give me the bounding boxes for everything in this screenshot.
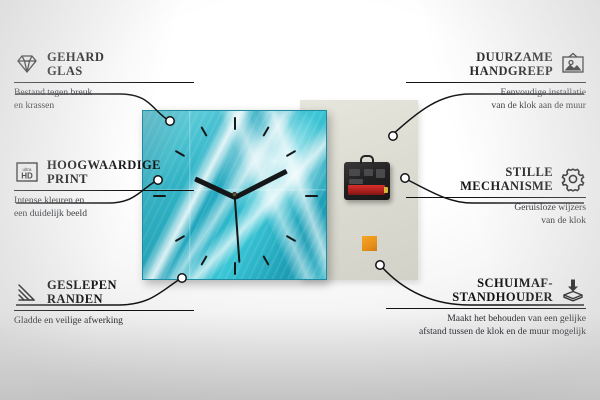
feature-title: SCHUIMAF-STANDHOUDER xyxy=(452,276,553,304)
feature-title: HOOGWAARDIGEPRINT xyxy=(47,158,161,186)
feature-title: STILLEMECHANISME xyxy=(460,165,553,193)
movement-notch xyxy=(349,179,363,184)
gear-icon xyxy=(560,166,586,192)
feature-description: Intense kleuren eneen duidelijk beeld xyxy=(14,195,194,220)
foam-spacer-icon xyxy=(560,277,586,303)
feature-title: GESLEPENRANDEN xyxy=(47,278,117,306)
ultra-hd-icon: ultra HD xyxy=(14,159,40,185)
feature-divider xyxy=(386,308,586,309)
feature-description: Gladde en veilige afwerking xyxy=(14,315,194,327)
svg-text:HD: HD xyxy=(21,172,33,181)
feature-title: GEHARDGLAS xyxy=(47,50,104,78)
hanging-picture-icon xyxy=(560,51,586,77)
infographic-stage: GEHARDGLAS Bestand tegen breuken krassen… xyxy=(0,0,600,400)
feature-header: SCHUIMAF-STANDHOUDER xyxy=(386,276,586,304)
movement-notch xyxy=(364,169,373,176)
feature-hoogwaardige-print[interactable]: ultra HD HOOGWAARDIGEPRINT Intense kleur… xyxy=(14,158,194,220)
feature-header: ultra HD HOOGWAARDIGEPRINT xyxy=(14,158,194,186)
feature-schuimaf-standhouder[interactable]: SCHUIMAF-STANDHOUDER Maakt het behouden … xyxy=(386,276,586,338)
feature-header: DUURZAMEHANDGREEP xyxy=(406,50,586,78)
feature-title: DUURZAMEHANDGREEP xyxy=(470,50,553,78)
quartz-movement xyxy=(344,162,390,200)
foam-spacer xyxy=(362,236,377,251)
feature-duurzame-handgreep[interactable]: DUURZAMEHANDGREEP Eenvoudige installatie… xyxy=(406,50,586,112)
feature-stille-mechanisme[interactable]: STILLEMECHANISME Geruisloze wijzersvan d… xyxy=(406,165,586,227)
feature-description: Eenvoudige installatievan de klok aan de… xyxy=(406,87,586,112)
feature-description: Bestand tegen breuken krassen xyxy=(14,87,194,112)
feature-divider xyxy=(406,197,586,198)
movement-hanger xyxy=(360,155,374,164)
feature-header: GESLEPENRANDEN xyxy=(14,278,194,306)
feature-divider xyxy=(14,82,194,83)
feature-description: Geruisloze wijzersvan de klok xyxy=(406,202,586,227)
diamond-icon xyxy=(14,51,40,77)
beveled-edge-icon xyxy=(14,279,40,305)
clock-battery xyxy=(348,185,385,195)
clock-tick xyxy=(234,262,236,275)
feature-divider xyxy=(14,310,194,311)
clock-tick xyxy=(305,195,318,197)
battery-terminal xyxy=(384,187,388,193)
clock-center-pin xyxy=(232,192,237,197)
feature-header: GEHARDGLAS xyxy=(14,50,194,78)
feature-divider xyxy=(406,82,586,83)
feature-divider xyxy=(14,190,194,191)
movement-notch xyxy=(376,169,385,178)
movement-notch xyxy=(349,169,360,176)
feature-header: STILLEMECHANISME xyxy=(406,165,586,193)
clock-tick xyxy=(234,117,236,130)
feature-description: Maakt het behouden van een gelijkeafstan… xyxy=(386,313,586,338)
feature-geslepen-randen[interactable]: GESLEPENRANDEN Gladde en veilige afwerki… xyxy=(14,278,194,328)
feature-gehard-glas[interactable]: GEHARDGLAS Bestand tegen breuken krassen xyxy=(14,50,194,112)
